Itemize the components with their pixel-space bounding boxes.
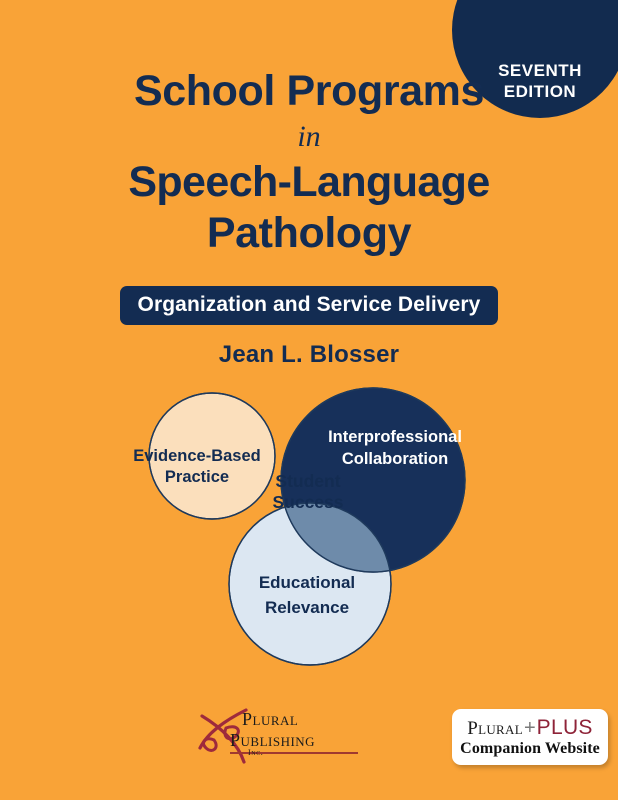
companion-website-label: Companion Website [460, 740, 600, 758]
venn-label-interprofessional-collaboration-line-2: Collaboration [342, 450, 448, 468]
venn-label-educational-relevance-line-2: Relevance [265, 598, 349, 617]
venn-overlap-navy-blue [229, 503, 391, 665]
venn-overlap-peach-navy [281, 388, 465, 572]
plus-sign-icon: + [524, 718, 536, 738]
venn-overlap-triple [229, 503, 391, 665]
plus-brand-plural: Plural [467, 719, 523, 738]
publisher-name-line-2: Publishing [230, 731, 358, 749]
title-connector: in [0, 118, 618, 156]
publisher-name-line-1: Plural [242, 710, 358, 728]
venn-outline-blue [229, 503, 391, 665]
venn-label-educational-relevance-line-1: Educational [259, 573, 355, 592]
book-title: School Programs in Speech-Language Patho… [0, 66, 618, 259]
author-name: Jean L. Blosser [0, 341, 618, 369]
book-cover: SEVENTH EDITION School Programs in Speec… [0, 0, 618, 800]
plus-brand-plus: PLUS [537, 717, 593, 738]
venn-label-evidence-based-practice-line-1: Evidence-Based [133, 447, 260, 465]
venn-overlap-peach-blue [229, 503, 391, 665]
venn-label-student-success-line-1: Student [275, 471, 340, 491]
publisher-suffix: Inc. [248, 748, 263, 757]
publisher-name: Plural Publishing [242, 710, 358, 754]
publisher-logo: Plural Publishing Inc. [196, 706, 366, 768]
venn-circle-evidence-based-practice [149, 393, 275, 519]
plus-brand-row: Plural + PLUS [467, 717, 592, 738]
companion-website-badge[interactable]: Plural + PLUS Companion Website [452, 709, 608, 765]
venn-label-student-success-line-2: Success [272, 492, 343, 512]
venn-outline-peach [149, 393, 275, 519]
book-subtitle: Organization and Service Delivery [120, 286, 499, 325]
venn-label-evidence-based-practice-line-2: Practice [165, 468, 229, 486]
title-line-2: Speech-Language [0, 157, 618, 207]
venn-label-interprofessional-collaboration-line-1: Interprofessional [328, 428, 462, 446]
title-line-1: School Programs [0, 66, 618, 116]
venn-circle-interprofessional-collaboration [281, 388, 465, 572]
title-line-3: Pathology [0, 207, 618, 259]
venn-circle-educational-relevance [229, 503, 391, 665]
subtitle-container: Organization and Service Delivery [0, 286, 618, 325]
venn-outline-navy [281, 388, 465, 572]
